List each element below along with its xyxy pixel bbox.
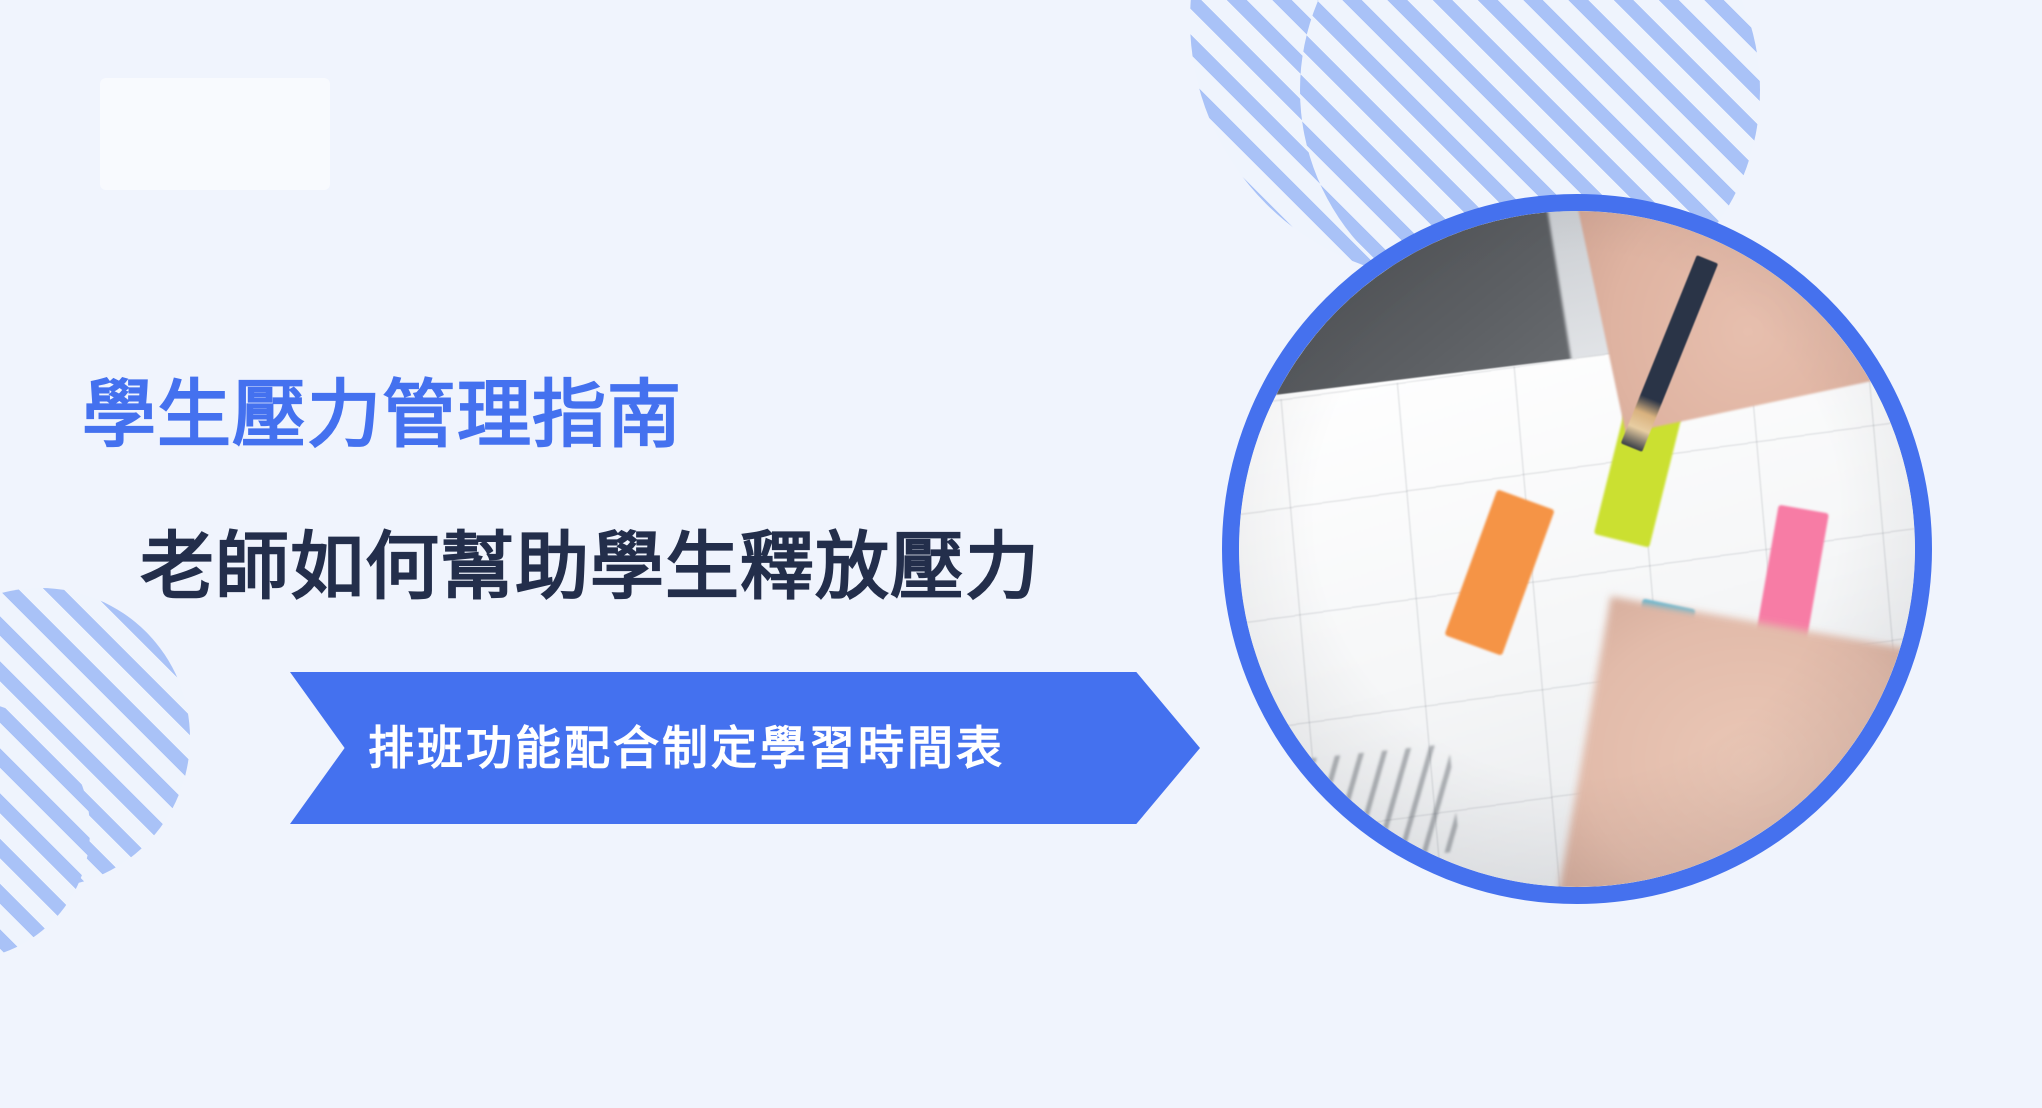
headline-primary: 學生壓力管理指南 (82, 378, 682, 452)
calendar-photo (1239, 211, 1915, 887)
striped-circle-bottom-left-large (0, 588, 190, 888)
ribbon-banner: 排班功能配合制定學習時間表 (290, 672, 1200, 824)
photo-vignette (1239, 211, 1915, 887)
calendar-photo-circle (1222, 194, 1932, 904)
striped-circle-bottom-left-small (0, 700, 90, 960)
headline-secondary: 老師如何幫助學生釋放壓力 (140, 530, 1040, 604)
ribbon-label: 排班功能配合制定學習時間表 (290, 725, 1005, 771)
ghost-panel-top-left (100, 78, 330, 190)
promo-banner: 學生壓力管理指南 老師如何幫助學生釋放壓力 排班功能配合制定學習時間表 (0, 0, 2042, 1108)
